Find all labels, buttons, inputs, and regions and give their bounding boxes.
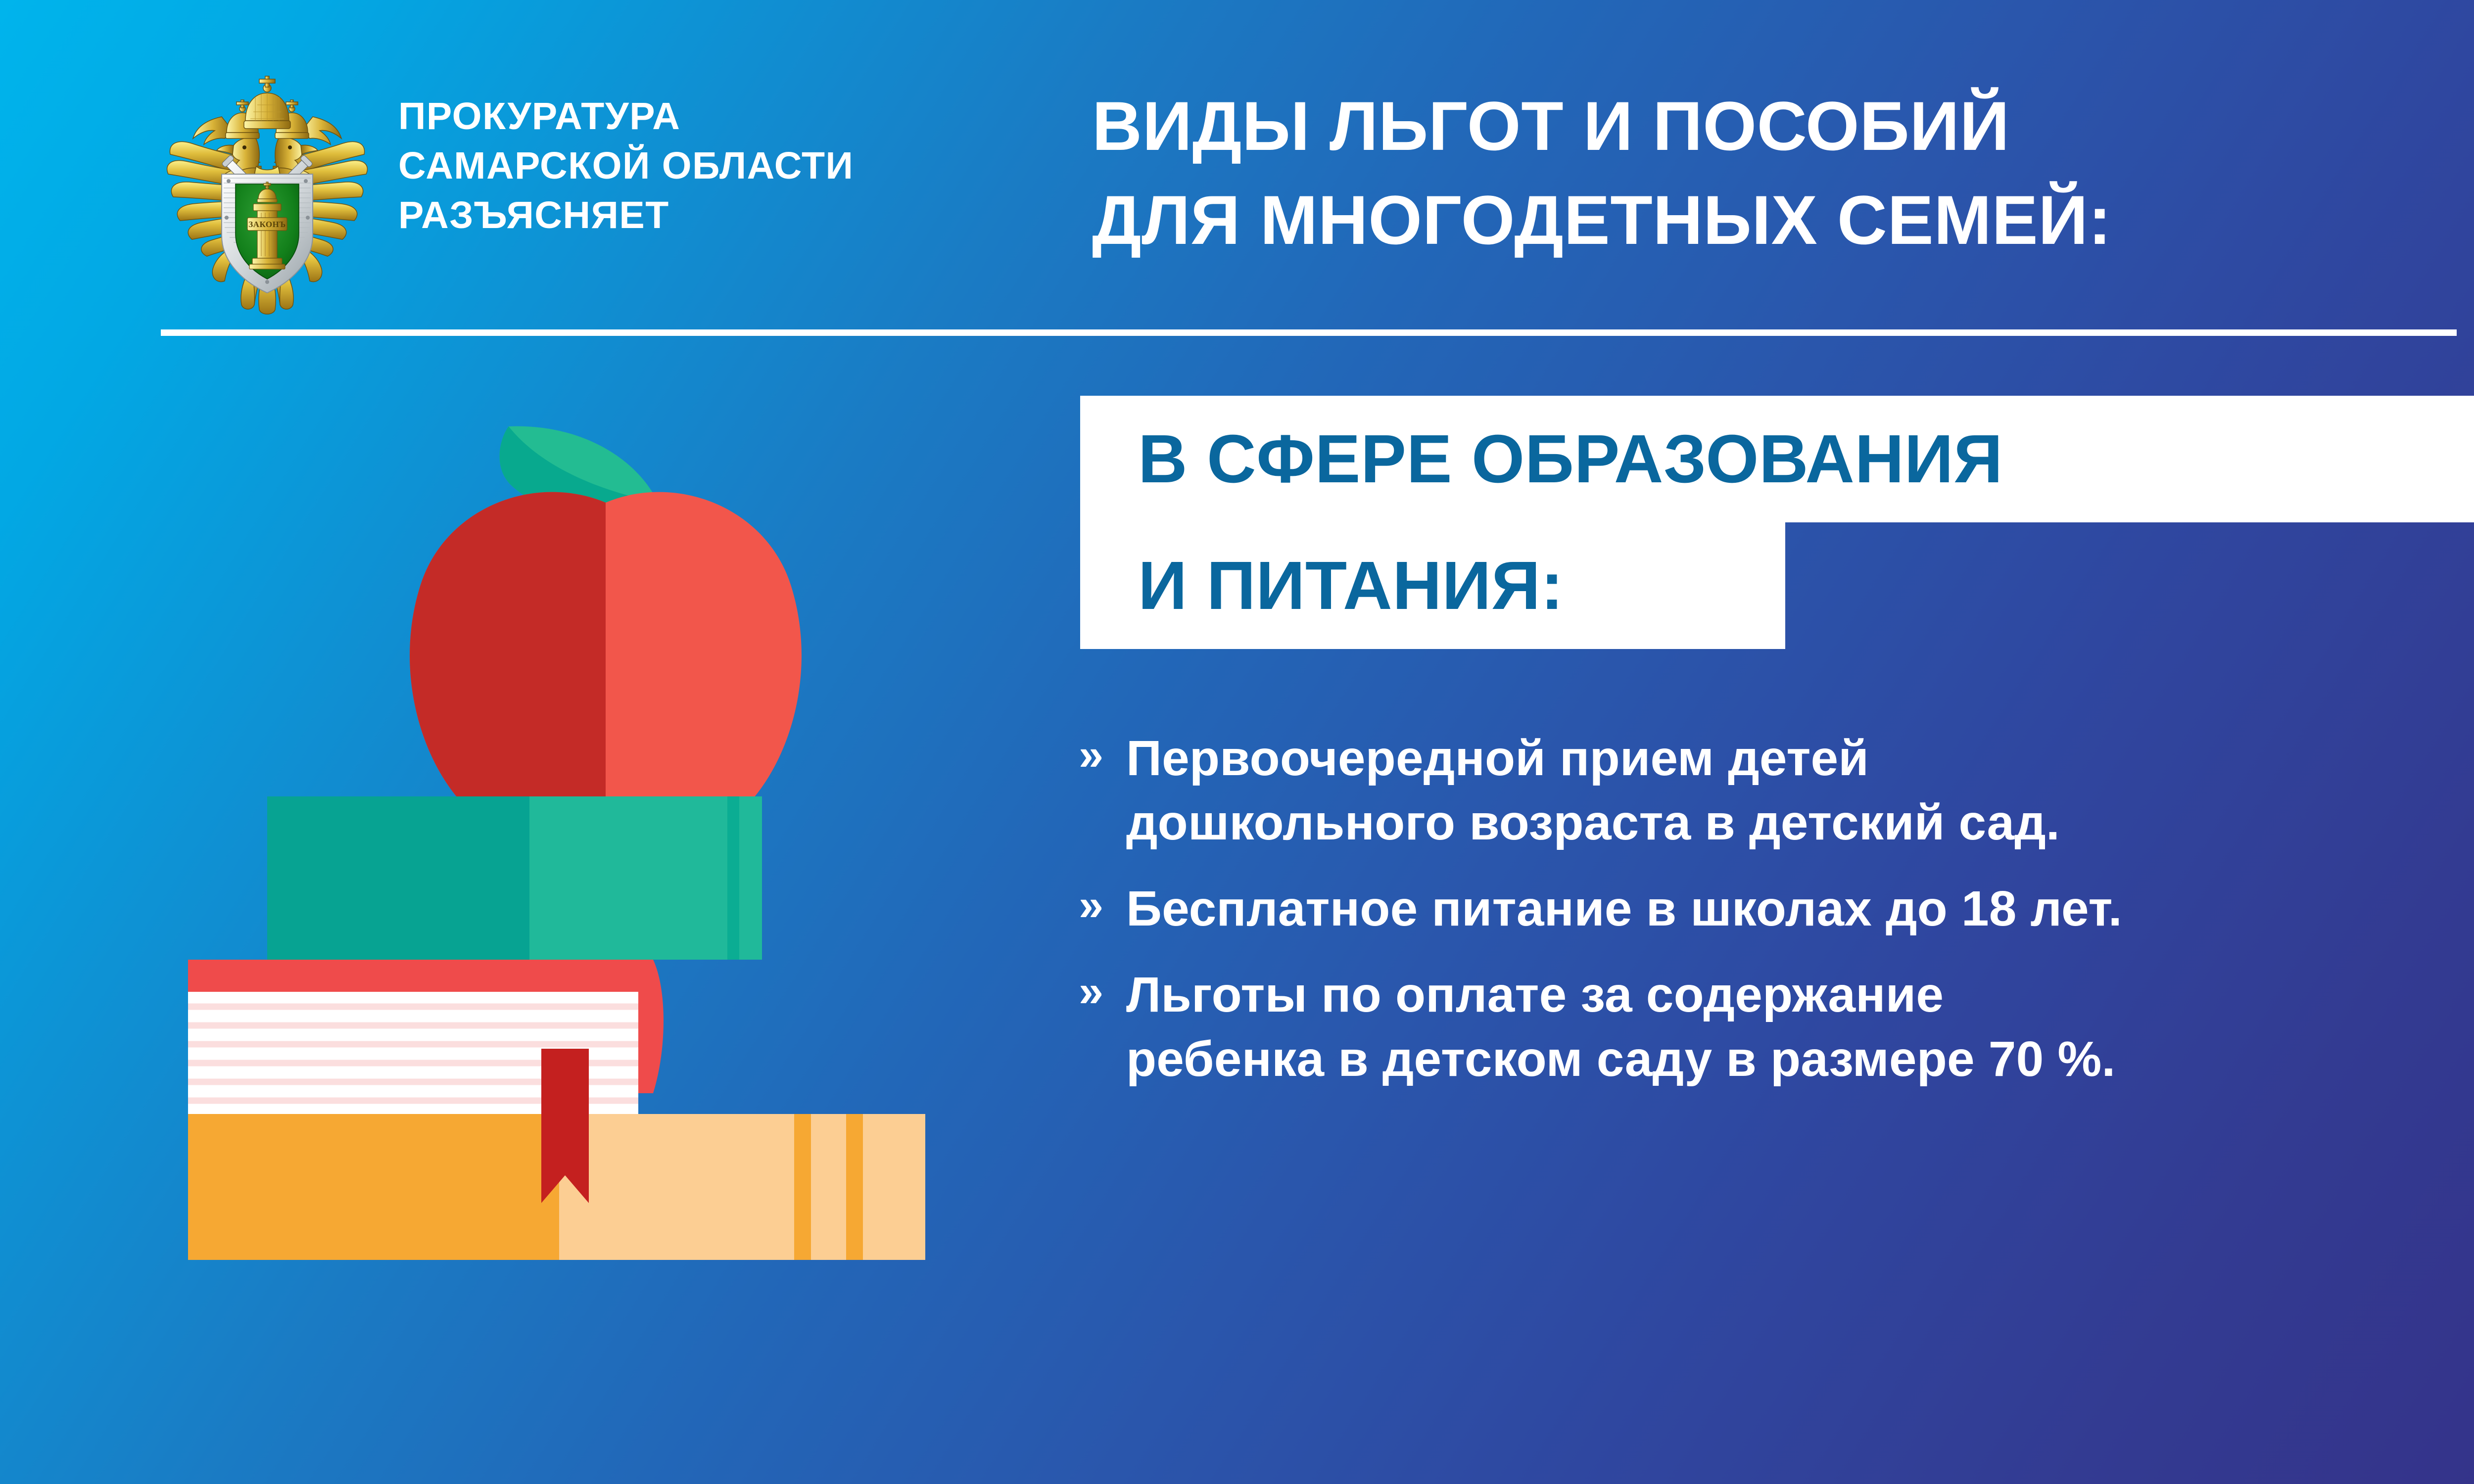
list-item: » Первоочередной прием детей дошкольного… bbox=[1079, 726, 2474, 855]
list-item-line: Льготы по оплате за содержание bbox=[1126, 963, 2474, 1027]
list-item-line: дошкольного возраста в детский сад. bbox=[1126, 790, 2474, 855]
page-title-line-1: ВИДЫ ЛЬГОТ И ПОСОБИЙ bbox=[1092, 79, 2111, 173]
svg-text:ЗАКОНЪ: ЗАКОНЪ bbox=[248, 220, 286, 229]
prosecutors-office-emblem: ЗАКОНЪ bbox=[163, 69, 371, 317]
list-item: » Бесплатное питание в школах до 18 лет. bbox=[1079, 877, 2474, 941]
list-item-text: Бесплатное питание в школах до 18 лет. bbox=[1126, 877, 2474, 941]
chevron-double-right-icon: » bbox=[1079, 963, 1126, 1020]
list-item-line: Первоочередной прием детей bbox=[1126, 726, 2474, 790]
brand-line-2: САМАРСКОЙ ОБЛАСТИ bbox=[398, 141, 1042, 190]
list-item-line: Бесплатное питание в школах до 18 лет. bbox=[1126, 877, 2474, 941]
infographic-poster: ЗАКОНЪ ПРОКУРАТУРА САМАРСКОЙ ОБЛАСТИ РАЗ… bbox=[0, 0, 2474, 1484]
page-title-line-2: ДЛЯ МНОГОДЕТНЫХ СЕМЕЙ: bbox=[1092, 173, 2111, 267]
list-item: » Льготы по оплате за содержание ребенка… bbox=[1079, 963, 2474, 1091]
list-item-line: ребенка в детском саду в размере 70 %. bbox=[1126, 1027, 2474, 1091]
page-title: ВИДЫ ЛЬГОТ И ПОСОБИЙ ДЛЯ МНОГОДЕТНЫХ СЕМ… bbox=[1092, 79, 2111, 268]
chevron-double-right-icon: » bbox=[1079, 726, 1126, 784]
list-item-text: Льготы по оплате за содержание ребенка в… bbox=[1126, 963, 2474, 1091]
brand-line-3: РАЗЪЯСНЯЕТ bbox=[398, 190, 1042, 240]
section-heading-line-2: И ПИТАНИЯ: bbox=[1080, 522, 1785, 649]
brand-line-1: ПРОКУРАТУРА bbox=[398, 92, 1042, 141]
header-divider bbox=[161, 329, 2457, 336]
benefits-list: » Первоочередной прием детей дошкольного… bbox=[1079, 726, 2474, 1113]
chevron-double-right-icon: » bbox=[1079, 877, 1126, 934]
apple-on-books-illustration bbox=[188, 406, 980, 1266]
teal-book-shape bbox=[267, 796, 762, 960]
apple-body-shape bbox=[410, 492, 802, 837]
section-heading-line-1: В СФЕРЕ ОБРАЗОВАНИЯ bbox=[1080, 396, 2474, 522]
brand-block: ПРОКУРАТУРА САМАРСКОЙ ОБЛАСТИ РАЗЪЯСНЯЕТ bbox=[398, 92, 1042, 240]
list-item-text: Первоочередной прием детей дошкольного в… bbox=[1126, 726, 2474, 855]
